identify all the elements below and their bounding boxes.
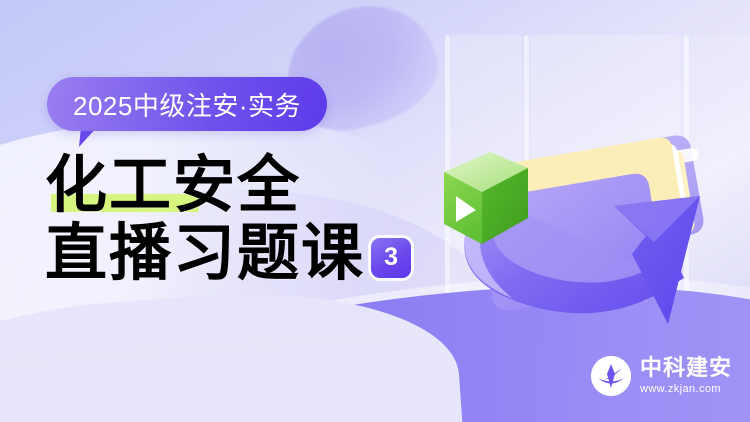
title-block: 化工安全 直播习题课 3 (45, 154, 411, 287)
title-line-2: 直播习题课 (45, 222, 365, 286)
brand-name: 中科建安 (640, 357, 732, 379)
title-line-1: 化工安全 (45, 154, 301, 218)
folder-illustration-svg (432, 28, 750, 358)
category-pill: 2025中级注安·实务 (47, 77, 327, 131)
brand-logo-text: 中科建安 www.zkjan.com (640, 357, 732, 395)
episode-number-badge: 3 (371, 238, 411, 278)
zkjan-logo-svg (591, 356, 631, 396)
zkjan-logo-icon (591, 356, 631, 396)
category-pill-label: 2025中级注安·实务 (73, 86, 301, 123)
title-line-1-row: 化工安全 (45, 154, 411, 218)
hero-illustration (432, 28, 750, 358)
course-cover-banner: 2025中级注安·实务 化工安全 直播习题课 3 中科建安 www.zkjan.… (0, 0, 750, 422)
brand-url: www.zkjan.com (640, 384, 732, 395)
brand-logo[interactable]: 中科建安 www.zkjan.com (591, 356, 732, 396)
title-line-2-row: 直播习题课 3 (45, 222, 411, 286)
